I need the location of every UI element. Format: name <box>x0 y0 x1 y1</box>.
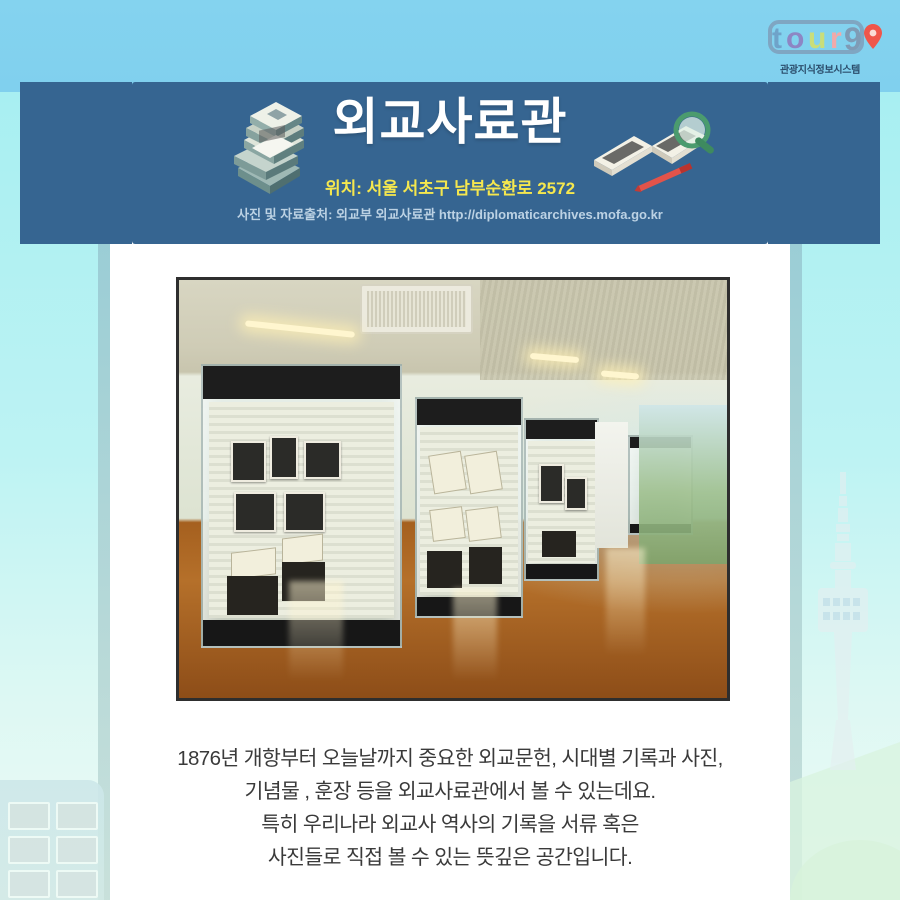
n-seoul-tower-icon <box>808 470 878 770</box>
exhibit-pedestal <box>469 547 502 584</box>
building-window <box>8 802 50 830</box>
description-text: 1876년 개항부터 오늘날까지 중요한 외교문헌, 시대별 기록과 사진, 기… <box>120 742 780 874</box>
display-case <box>524 418 599 581</box>
building-window <box>8 836 50 864</box>
case-header <box>417 399 521 425</box>
building-window <box>56 802 98 830</box>
document-exhibit <box>429 506 466 542</box>
case-base <box>526 564 597 578</box>
infographic-poster: t o u r 9 관광지식정보시스템 <box>0 0 900 900</box>
case-header <box>526 420 597 439</box>
building-window <box>8 870 50 898</box>
exhibit-pedestal <box>542 531 576 556</box>
building-window <box>56 870 98 898</box>
banner-body: 외교사료관 위치: 서울 서초구 남부순환로 2572 사진 및 자료출처: 외… <box>132 82 768 244</box>
photo-image <box>179 280 727 698</box>
description-line: 1876년 개항부터 오늘날까지 중요한 외교문헌, 시대별 기록과 사진, <box>120 742 780 775</box>
exhibit-pedestal <box>427 551 462 588</box>
case-header <box>203 366 400 400</box>
exterior-window <box>639 405 727 564</box>
exhibit-pedestal <box>227 576 278 615</box>
location-pin-icon <box>864 24 882 49</box>
description-line: 특히 우리나라 외교사 역사의 기록을 서류 혹은 <box>120 808 780 841</box>
floor-reflection <box>289 581 344 681</box>
document-exhibit <box>465 506 502 542</box>
display-case <box>415 397 523 618</box>
floor-reflection <box>453 589 497 681</box>
info-panel-column <box>595 422 628 547</box>
framed-photo <box>284 492 325 532</box>
ceiling-lamp <box>245 320 355 337</box>
logo-caption: 관광지식정보시스템 <box>756 61 884 76</box>
banner-tail-left <box>20 82 132 244</box>
tour9-logo[interactable]: t o u r 9 관광지식정보시스템 <box>756 14 884 76</box>
ceiling-panel <box>480 280 727 380</box>
exhibition-photo <box>176 277 730 701</box>
framed-photo <box>539 464 564 503</box>
framed-photo <box>565 477 586 510</box>
location-text: 위치: 서울 서초구 남부순환로 2572 <box>132 174 768 199</box>
title-banner: 외교사료관 위치: 서울 서초구 남부순환로 2572 사진 및 자료출처: 외… <box>110 82 790 244</box>
document-exhibit <box>428 451 467 495</box>
hill-bump <box>790 840 900 900</box>
page-title: 외교사료관 <box>132 92 768 152</box>
framed-photo <box>231 441 267 481</box>
svg-text:u: u <box>808 22 826 55</box>
building-window <box>56 836 98 864</box>
description-line: 사진들로 직접 볼 수 있는 뜻깊은 공간입니다. <box>120 841 780 874</box>
document-exhibit <box>464 451 503 495</box>
banner-tail-right <box>768 82 880 244</box>
svg-text:r: r <box>830 22 842 55</box>
source-text: 사진 및 자료출처: 외교부 외교사료관 http://diplomaticar… <box>132 204 768 223</box>
svg-text:t: t <box>772 22 782 55</box>
ceiling-ac-unit <box>360 284 474 334</box>
framed-photo <box>270 436 298 479</box>
floor-reflection <box>606 548 644 657</box>
svg-text:o: o <box>786 22 804 55</box>
svg-text:9: 9 <box>844 21 862 57</box>
framed-photo <box>234 492 275 532</box>
building-silhouette-icon <box>0 780 104 900</box>
description-line: 기념물 , 훈장 등을 외교사료관에서 볼 수 있는데요. <box>120 775 780 808</box>
tour9-wordmark: t o u r 9 <box>756 14 884 62</box>
framed-photo <box>304 441 342 479</box>
